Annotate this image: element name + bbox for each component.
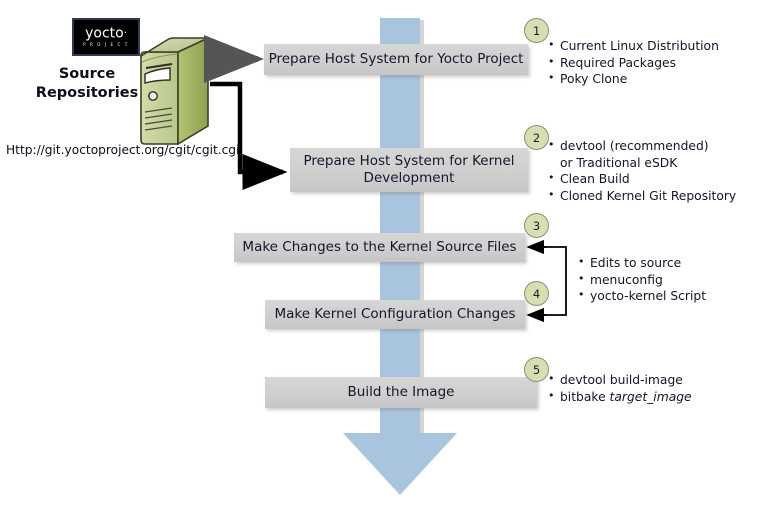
notes-step-3-and-4: Edits to source menuconfig yocto-kernel … [578, 255, 706, 305]
notes-step-5: devtool build-image bitbake target_image [548, 372, 692, 405]
note-item: Required Packages [548, 55, 719, 72]
note-item: menuconfig [578, 272, 706, 289]
step-badge-3: 3 [524, 213, 549, 238]
step-number: 5 [533, 363, 540, 377]
process-box-label: Make Kernel Configuration Changes [274, 306, 515, 323]
note-item: Current Linux Distribution [548, 38, 719, 55]
step-number: 2 [533, 131, 540, 145]
step-number: 1 [533, 24, 540, 38]
step-number: 4 [533, 287, 540, 301]
process-box-make-source-changes[interactable]: Make Changes to the Kernel Source Files [234, 233, 525, 262]
process-box-label: Make Changes to the Kernel Source Files [242, 239, 516, 256]
note-item: bitbake target_image [548, 389, 692, 406]
note-text-italic: target_image [610, 390, 692, 404]
diagram-canvas: yocto· P R O J E C T Source Repositories… [0, 0, 769, 517]
note-item: Clean Build [548, 171, 736, 188]
note-item: Cloned Kernel Git Repository [548, 188, 736, 205]
notes-list: Current Linux Distribution Required Pack… [548, 38, 719, 88]
step-badge-4: 4 [524, 281, 549, 306]
note-text: devtool build-image [560, 373, 683, 387]
notes-list: devtool (recommended) or Traditional eSD… [548, 138, 736, 204]
notes-list: devtool build-image bitbake target_image [548, 372, 692, 405]
notes-step-1: Current Linux Distribution Required Pack… [548, 38, 719, 88]
process-box-label: Build the Image [348, 384, 455, 401]
note-item: Poky Clone [548, 71, 719, 88]
process-box-prepare-host-kernel[interactable]: Prepare Host System for Kernel Developme… [290, 148, 528, 192]
step-badge-1: 1 [524, 18, 549, 43]
note-item: Edits to source [578, 255, 706, 272]
note-item: yocto-kernel Script [578, 288, 706, 305]
process-box-label: Prepare Host System for Kernel Developme… [290, 153, 528, 187]
process-box-make-config-changes[interactable]: Make Kernel Configuration Changes [265, 300, 525, 329]
note-text: bitbake [560, 390, 610, 404]
notes-step-2: devtool (recommended) or Traditional eSD… [548, 138, 736, 204]
process-box-label: Prepare Host System for Yocto Project [269, 51, 524, 68]
step-number: 3 [533, 219, 540, 233]
notes-list: Edits to source menuconfig yocto-kernel … [578, 255, 706, 305]
note-item: devtool (recommended) or Traditional eSD… [548, 138, 720, 171]
note-item: devtool build-image [548, 372, 692, 389]
process-box-build-image[interactable]: Build the Image [265, 377, 537, 408]
process-box-prepare-host-yocto[interactable]: Prepare Host System for Yocto Project [264, 44, 528, 75]
step-badge-2: 2 [524, 125, 549, 150]
step-badge-5: 5 [524, 357, 549, 382]
